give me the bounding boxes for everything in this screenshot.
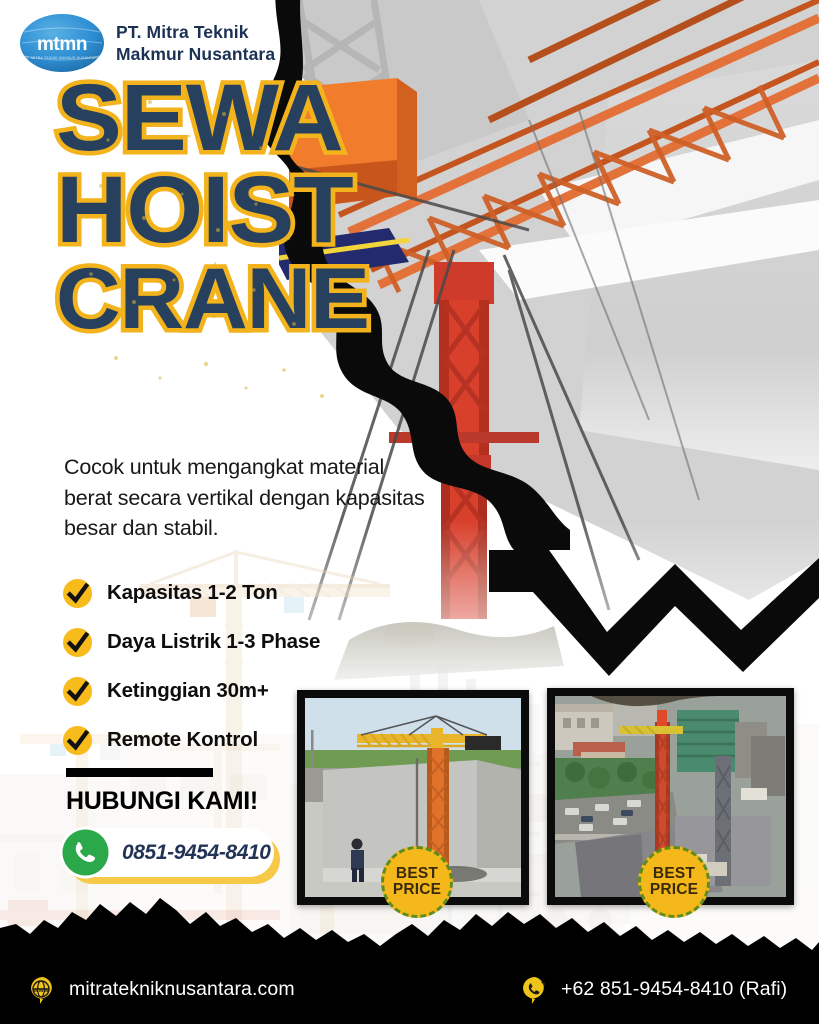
description-text: Cocok untuk mengangkat material berat se… bbox=[64, 452, 434, 544]
title-line-2: HOIST bbox=[56, 170, 369, 252]
whatsapp-contact-button[interactable]: 0851-9454-8410 bbox=[62, 828, 274, 877]
svg-text:WWW: WWW bbox=[33, 988, 49, 994]
www-globe-icon: WWW bbox=[28, 975, 58, 1005]
svg-text:PT. MITRA TEKNIK MAKMUR NUSANT: PT. MITRA TEKNIK MAKMUR NUSANTARA bbox=[24, 56, 100, 60]
whatsapp-phone-number: 0851-9454-8410 bbox=[122, 841, 271, 865]
company-name-line1: PT. Mitra Teknik bbox=[116, 21, 275, 43]
badge-line-1: BEST bbox=[396, 866, 438, 882]
check-icon bbox=[62, 676, 93, 707]
feature-item: Kapasitas 1-2 Ton bbox=[62, 570, 320, 616]
phone-circle-icon bbox=[520, 975, 550, 1005]
whatsapp-icon[interactable] bbox=[57, 824, 114, 881]
footer-phone[interactable]: +62 851-9454-8410 (Rafi) bbox=[520, 975, 787, 1005]
company-name: PT. Mitra Teknik Makmur Nusantara bbox=[116, 21, 275, 66]
company-logo: mtmn PT. MITRA TEKNIK MAKMUR NUSANTARA bbox=[18, 12, 106, 74]
best-price-badge: BEST PRICE bbox=[381, 846, 453, 918]
feature-label: Ketinggian 30m+ bbox=[107, 679, 269, 703]
feature-item: Remote Kontrol bbox=[62, 717, 320, 763]
brand-header: mtmn PT. MITRA TEKNIK MAKMUR NUSANTARA P… bbox=[18, 12, 275, 74]
svg-text:mtmn: mtmn bbox=[37, 34, 87, 55]
feature-label: Daya Listrik 1-3 Phase bbox=[107, 630, 320, 654]
title-line-3: CRANE bbox=[56, 263, 369, 337]
badge-line-1: BEST bbox=[653, 866, 695, 882]
best-price-badge: BEST PRICE bbox=[638, 846, 710, 918]
check-icon bbox=[62, 627, 93, 658]
badge-line-2: PRICE bbox=[650, 882, 698, 898]
check-icon bbox=[62, 725, 93, 756]
feature-item: Ketinggian 30m+ bbox=[62, 668, 320, 714]
footer: WWW mitratekniknusantara.com +62 851-945… bbox=[0, 955, 819, 1024]
footer-phone-text: +62 851-9454-8410 (Rafi) bbox=[561, 978, 787, 1001]
divider-rule bbox=[66, 768, 213, 777]
check-icon bbox=[62, 578, 93, 609]
feature-label: Kapasitas 1-2 Ton bbox=[107, 581, 278, 605]
feature-list: Kapasitas 1-2 Ton Daya Listrik 1-3 Phase… bbox=[62, 570, 320, 766]
title-line-1: SEWA bbox=[56, 78, 369, 160]
feature-label: Remote Kontrol bbox=[107, 728, 258, 752]
poster-title: SEWA HOIST CRANE bbox=[56, 78, 357, 337]
poster: mtmn PT. MITRA TEKNIK MAKMUR NUSANTARA P… bbox=[0, 0, 819, 1024]
contact-heading: HUBUNGI KAMI! bbox=[66, 787, 258, 816]
badge-line-2: PRICE bbox=[393, 882, 441, 898]
footer-website-text: mitratekniknusantara.com bbox=[69, 978, 295, 1001]
feature-item: Daya Listrik 1-3 Phase bbox=[62, 619, 320, 665]
company-name-line2: Makmur Nusantara bbox=[116, 43, 275, 65]
footer-website[interactable]: WWW mitratekniknusantara.com bbox=[28, 975, 295, 1005]
